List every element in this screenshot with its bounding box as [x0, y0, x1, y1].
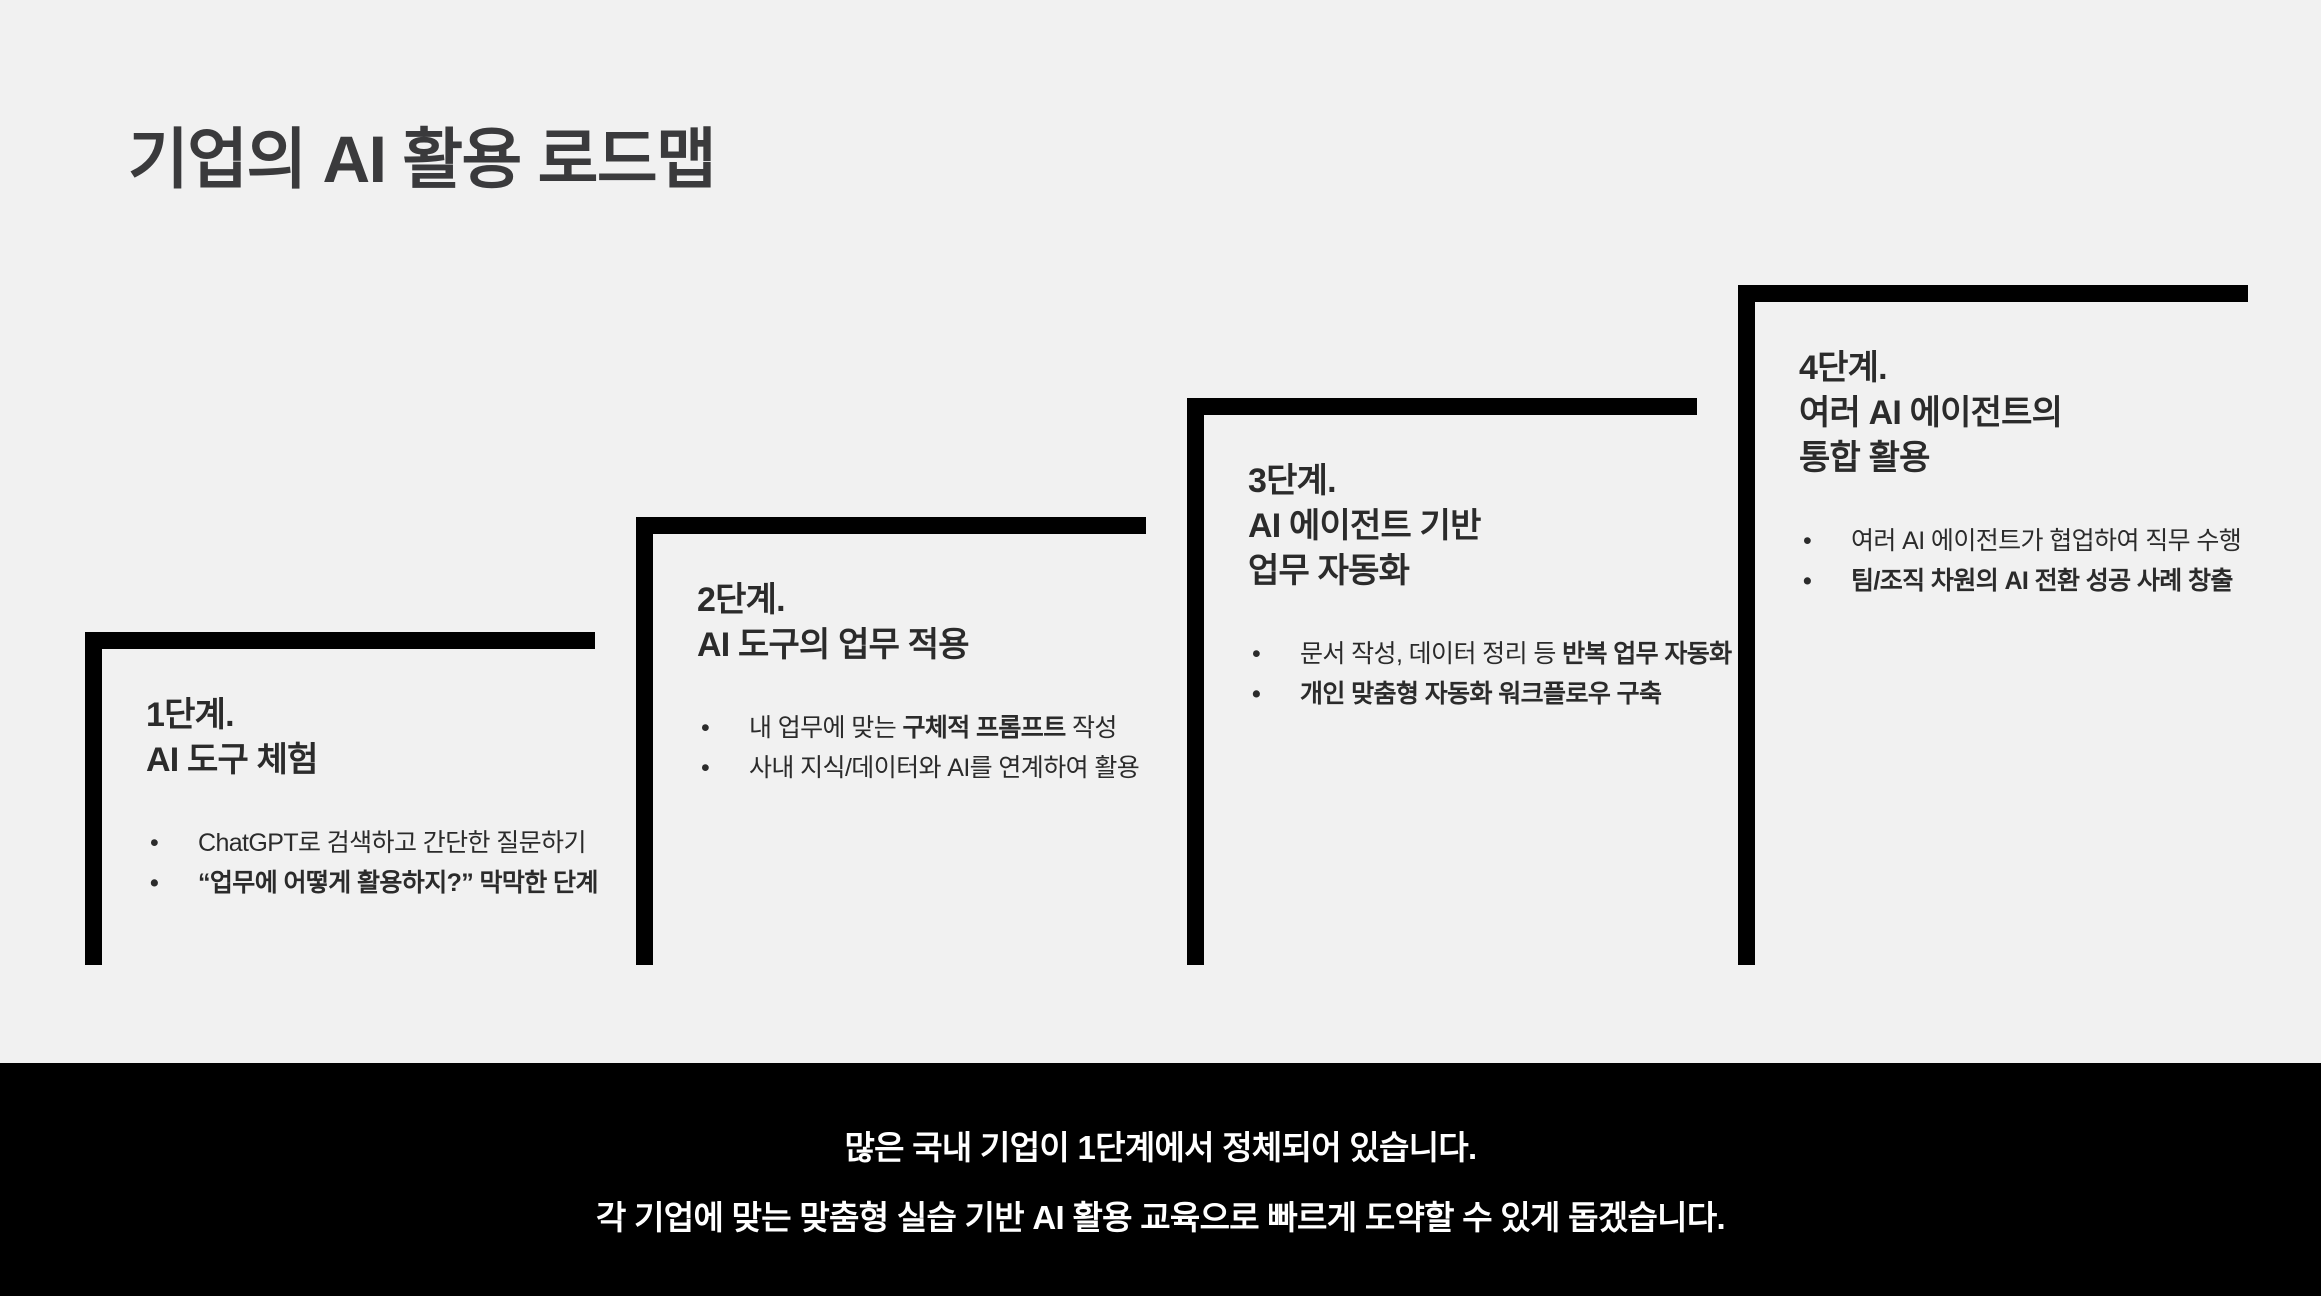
bullet-text: 문서 작성, 데이터 정리 등 [1300, 640, 1562, 668]
bullet-icon: • [1252, 634, 1260, 675]
stage-4-bullet-list: • 여러 AI 에이전트가 협업하여 직무 수행 • 팀/조직 차원의 AI 전… [1799, 521, 2248, 602]
bullet-text: 여러 AI 에이전트가 협업하여 직무 수행 [1851, 527, 2241, 555]
list-item: • 사내 지식/데이터와 AI를 연계하여 활용 [697, 748, 1146, 789]
list-item: • ChatGPT로 검색하고 간단한 질문하기 [146, 823, 595, 864]
list-item: • “업무에 어떻게 활용하지?” 막막한 단계 [146, 863, 595, 904]
bullet-icon: • [701, 748, 709, 789]
bullet-icon: • [701, 708, 709, 749]
stage-card-1: 1단계. AI 도구 체험 • ChatGPT로 검색하고 간단한 질문하기 •… [85, 632, 595, 965]
banner-line-2: 각 기업에 맞는 맞춤형 실습 기반 AI 활용 교육으로 빠르게 도약할 수 … [596, 1191, 1725, 1239]
stage-4-heading: 4단계. 여러 AI 에이전트의 통합 활용 [1799, 346, 2248, 481]
list-item: • 문서 작성, 데이터 정리 등 반복 업무 자동화 [1248, 634, 1697, 675]
bullet-text: ChatGPT로 검색하고 간단한 질문하기 [198, 829, 586, 857]
bottom-banner: 많은 국내 기업이 1단계에서 정체되어 있습니다. 각 기업에 맞는 맞춤형 … [0, 1063, 2321, 1296]
stage-2-heading: 2단계. AI 도구의 업무 적용 [697, 578, 1146, 668]
stage-card-2: 2단계. AI 도구의 업무 적용 • 내 업무에 맞는 구체적 프롬프트 작성… [636, 517, 1146, 965]
bullet-icon: • [1252, 674, 1260, 715]
stage-card-3: 3단계. AI 에이전트 기반 업무 자동화 • 문서 작성, 데이터 정리 등… [1187, 398, 1697, 965]
bullet-emphasis: 구체적 프롬프트 [902, 714, 1065, 742]
bullet-icon: • [150, 863, 158, 904]
list-item: • 팀/조직 차원의 AI 전환 성공 사례 창출 [1799, 561, 2248, 602]
stage-2-bullet-list: • 내 업무에 맞는 구체적 프롬프트 작성 • 사내 지식/데이터와 AI를 … [697, 708, 1146, 789]
list-item: • 여러 AI 에이전트가 협업하여 직무 수행 [1799, 521, 2248, 562]
bullet-icon: • [1803, 561, 1811, 602]
bullet-emphasis: 반복 업무 자동화 [1562, 640, 1732, 668]
stage-1-bullet-list: • ChatGPT로 검색하고 간단한 질문하기 • “업무에 어떻게 활용하지… [146, 823, 595, 904]
list-item: • 내 업무에 맞는 구체적 프롬프트 작성 [697, 708, 1146, 749]
bullet-text: 팀/조직 차원의 AI 전환 성공 사례 창출 [1851, 567, 2233, 595]
stage-1-heading: 1단계. AI 도구 체험 [146, 693, 595, 783]
bullet-icon: • [150, 823, 158, 864]
stage-3-bullet-list: • 문서 작성, 데이터 정리 등 반복 업무 자동화 • 개인 맞춤형 자동화… [1248, 634, 1697, 715]
stage-3-heading: 3단계. AI 에이전트 기반 업무 자동화 [1248, 459, 1697, 594]
bullet-icon: • [1803, 521, 1811, 562]
stage-card-4: 4단계. 여러 AI 에이전트의 통합 활용 • 여러 AI 에이전트가 협업하… [1738, 285, 2248, 965]
list-item: • 개인 맞춤형 자동화 워크플로우 구축 [1248, 674, 1697, 715]
bullet-tail: 작성 [1072, 714, 1117, 742]
bullet-text: “업무에 어떻게 활용하지?” 막막한 단계 [198, 869, 598, 897]
banner-line-1: 많은 국내 기업이 1단계에서 정체되어 있습니다. [844, 1121, 1476, 1169]
bullet-text: 개인 맞춤형 자동화 워크플로우 구축 [1300, 680, 1661, 708]
page-title: 기업의 AI 활용 로드맵 [128, 106, 715, 202]
bullet-text: 사내 지식/데이터와 AI를 연계하여 활용 [749, 754, 1139, 782]
bullet-text: 내 업무에 맞는 [749, 714, 902, 742]
